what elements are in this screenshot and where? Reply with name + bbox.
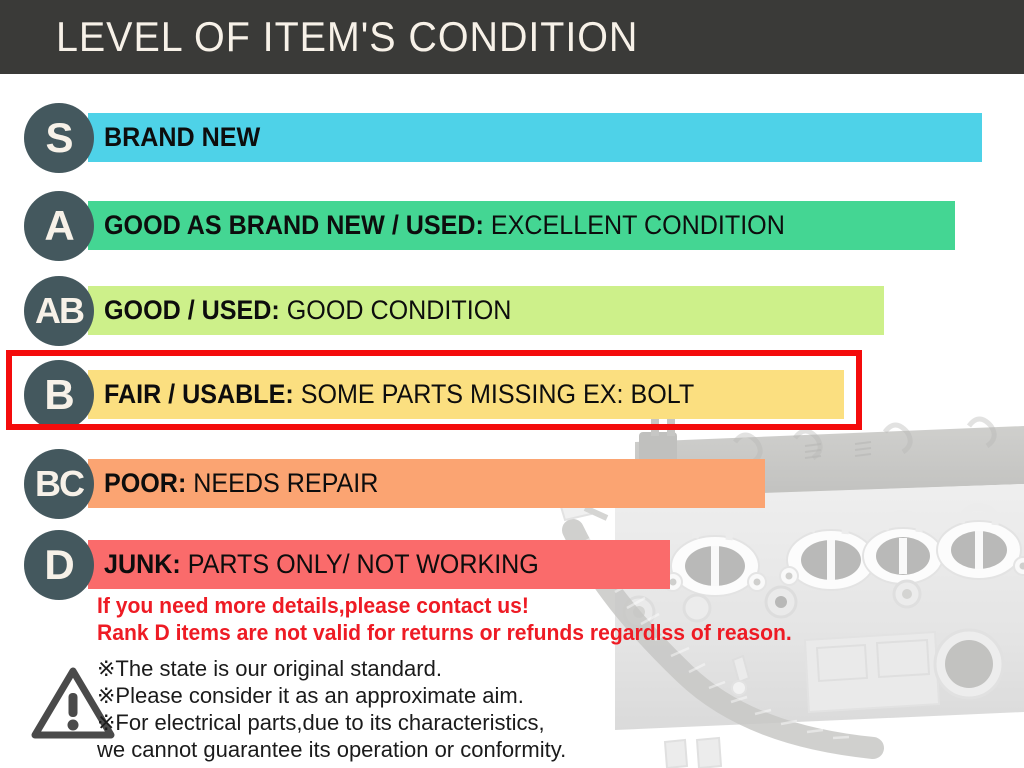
rank-badge-bc: BC: [24, 449, 94, 519]
rank-label-ab: GOOD / USED: GOOD CONDITION: [104, 286, 511, 335]
note-line-1: ※The state is our original standard.: [97, 655, 566, 682]
rank-label-bold: GOOD / USED:: [104, 295, 280, 325]
rank-badge-s: S: [24, 103, 94, 173]
note-line-4: we cannot guarantee its operation or con…: [97, 736, 566, 763]
rank-row-b[interactable]: B FAIR / USABLE: SOME PARTS MISSING EX: …: [0, 370, 1024, 458]
rank-label-s: BRAND NEW: [104, 113, 260, 162]
rank-label-bold: FAIR / USABLE:: [104, 379, 294, 409]
page-title: LEVEL OF ITEM'S CONDITION: [56, 12, 638, 62]
rank-row-s[interactable]: SBRAND NEW: [0, 113, 1024, 201]
rank-label-detail: SOME PARTS MISSING EX: BOLT: [294, 379, 694, 409]
note-line-2: ※Please consider it as an approximate ai…: [97, 682, 566, 709]
rank-label-detail: NEEDS REPAIR: [186, 468, 378, 498]
rank-label-detail: GOOD CONDITION: [280, 295, 512, 325]
rank-label-bold: GOOD AS BRAND NEW / USED:: [104, 210, 484, 240]
rank-label-d: JUNK: PARTS ONLY/ NOT WORKING: [104, 540, 539, 589]
rank-label-bc: POOR: NEEDS REPAIR: [104, 459, 378, 508]
rank-badge-a: A: [24, 191, 94, 261]
rank-label-a: GOOD AS BRAND NEW / USED: EXCELLENT COND…: [104, 201, 785, 250]
rank-label-bold: POOR:: [104, 468, 186, 498]
warning-line-2: Rank D items are not valid for returns o…: [97, 619, 792, 646]
rank-label-detail: PARTS ONLY/ NOT WORKING: [181, 549, 539, 579]
rank-label-bold: JUNK:: [104, 549, 181, 579]
rank-label-bold: BRAND NEW: [104, 122, 260, 152]
rank-label-detail: EXCELLENT CONDITION: [484, 210, 785, 240]
warning-line-1: If you need more details,please contact …: [97, 592, 792, 619]
rank-badge-ab: AB: [24, 276, 94, 346]
note-line-3: ※For electrical parts,due to its charact…: [97, 709, 566, 736]
rank-row-bc[interactable]: BCPOOR: NEEDS REPAIR: [0, 459, 1024, 547]
rank-badge-b: B: [24, 360, 94, 430]
rank-row-a[interactable]: AGOOD AS BRAND NEW / USED: EXCELLENT CON…: [0, 201, 1024, 289]
rank-row-ab[interactable]: ABGOOD / USED: GOOD CONDITION: [0, 286, 1024, 374]
disclaimer-notes: ※The state is our original standard. ※Pl…: [97, 655, 566, 763]
warning-notes: If you need more details,please contact …: [97, 592, 821, 646]
rank-label-b: FAIR / USABLE: SOME PARTS MISSING EX: BO…: [104, 370, 694, 419]
rank-badge-d: D: [24, 530, 94, 600]
header-bar: LEVEL OF ITEM'S CONDITION: [0, 0, 1024, 74]
condition-level-infographic: LEVEL OF ITEM'S CONDITION SBRAND NEWAGOO…: [0, 0, 1024, 768]
